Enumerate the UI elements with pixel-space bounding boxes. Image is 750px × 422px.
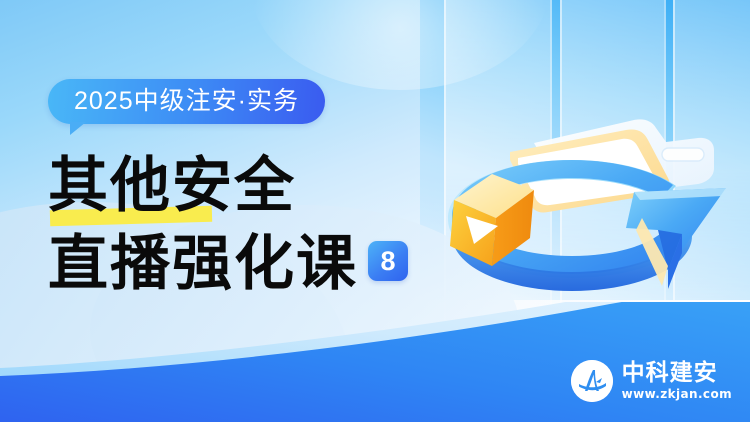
background-sky-gradient (420, 0, 750, 300)
tag-tail-icon (70, 122, 86, 135)
headline-line-2: 直播强化课8 (48, 230, 468, 298)
background-glow-top (250, 0, 550, 90)
yellow-document (510, 129, 670, 212)
brand-logo[interactable]: 中科建安 www.zkjan.com (571, 360, 732, 402)
headline-block: 其他安全 直播强化课8 (48, 152, 468, 298)
course-promo-banner: 2025中级注安·实务 其他安全 直播强化课8 中科建安 www.zkjan.c… (0, 0, 750, 422)
episode-badge: 8 (368, 241, 408, 281)
headline-line-2-text: 直播强化课 (48, 229, 358, 299)
course-tag[interactable]: 2025中级注安·实务 (48, 79, 325, 124)
brand-logo-text: 中科建安 www.zkjan.com (622, 361, 732, 401)
brand-url: www.zkjan.com (622, 388, 732, 401)
folder-back-sheets (534, 119, 714, 202)
blue-circular-arrow (448, 160, 726, 291)
headline-line-1-text: 其他安全 (48, 151, 296, 221)
background-stripe-2 (560, 0, 666, 320)
background-stripe-3 (673, 0, 750, 320)
zkjan-logo-icon (571, 360, 613, 402)
document-sliver (636, 218, 668, 286)
brand-name: 中科建安 (622, 361, 732, 386)
course-tag-label: 2025中级注安·实务 (48, 79, 325, 124)
headline-line-1: 其他安全 (48, 152, 468, 220)
